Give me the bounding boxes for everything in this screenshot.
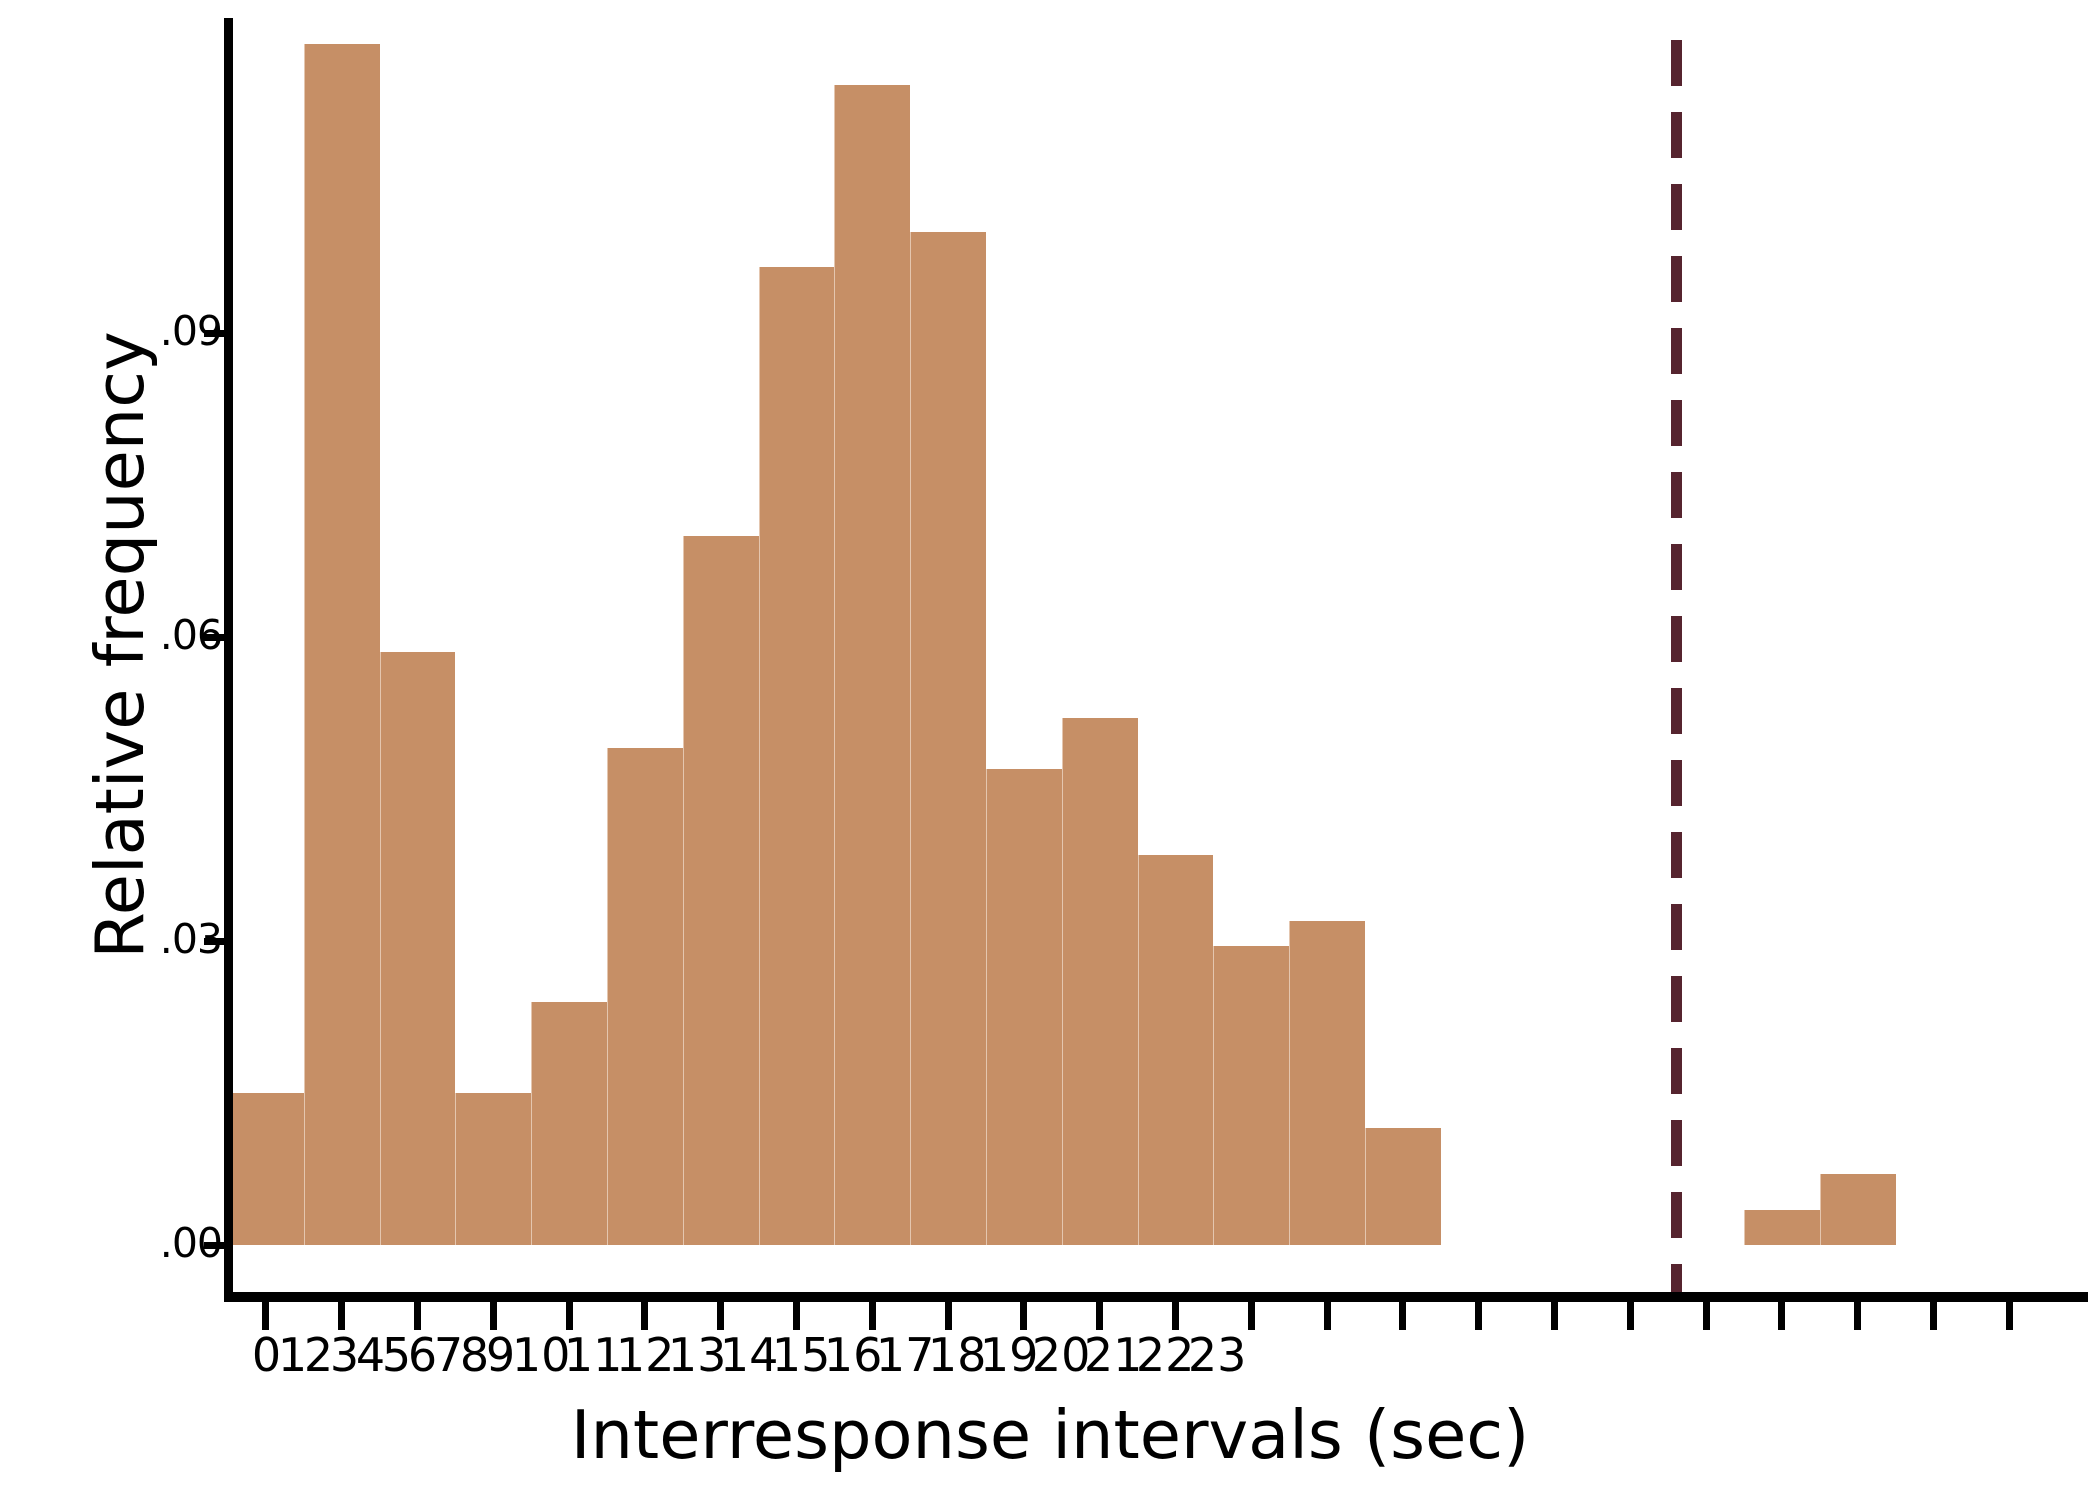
x-axis-tick-label: 18 xyxy=(928,1330,987,1380)
x-axis-tick-label: 15 xyxy=(772,1330,831,1380)
histogram-bar xyxy=(455,1093,531,1245)
x-axis-tick-label: 12 xyxy=(616,1330,675,1380)
x-axis-tick xyxy=(1778,1302,1785,1330)
x-axis-tick xyxy=(1020,1302,1027,1330)
x-axis-tick xyxy=(1551,1302,1558,1330)
x-axis-tick xyxy=(793,1302,800,1330)
x-axis-tick xyxy=(2006,1302,2013,1330)
histogram-bar xyxy=(1138,855,1214,1245)
histogram-bar xyxy=(683,536,759,1245)
y-axis-tick-label: .09 xyxy=(160,311,222,352)
x-axis-tick-label: 10 xyxy=(512,1330,571,1380)
x-axis-tick xyxy=(338,1302,345,1330)
x-axis-tick-label: 9 xyxy=(486,1330,515,1380)
x-axis-tick-label: 14 xyxy=(720,1330,779,1380)
x-axis-tick-label: 16 xyxy=(824,1330,883,1380)
histogram-bar xyxy=(607,748,683,1245)
histogram-bar xyxy=(759,267,835,1245)
histogram-bar xyxy=(986,769,1062,1245)
x-axis-tick-label: 20 xyxy=(1032,1330,1091,1380)
x-axis-tick xyxy=(1172,1302,1179,1330)
x-axis-tick-label: 17 xyxy=(876,1330,935,1380)
x-axis-tick xyxy=(1475,1302,1482,1330)
x-axis-tick-label: 23 xyxy=(1188,1330,1247,1380)
histogram-bar xyxy=(531,1002,607,1245)
y-axis-line xyxy=(224,18,233,1300)
x-axis-tick-label: 8 xyxy=(460,1330,489,1380)
x-axis-tick-label: 2 xyxy=(304,1330,333,1380)
x-axis-tick xyxy=(945,1302,952,1330)
histogram-bar xyxy=(304,44,380,1245)
median-dashed-line xyxy=(1671,40,1682,1300)
histogram-bar xyxy=(1820,1174,1896,1245)
x-axis-tick-label: 21 xyxy=(1084,1330,1143,1380)
x-axis-tick-label: 4 xyxy=(356,1330,385,1380)
x-axis-tick xyxy=(1324,1302,1331,1330)
plot-area: .00.03.06.09 012345678910111213141516171… xyxy=(0,0,2100,1500)
histogram-bar xyxy=(1744,1210,1820,1245)
x-axis-tick-labels: 01234567891011121314151617181920212223 xyxy=(0,1330,2100,1390)
histogram-bar xyxy=(834,85,910,1245)
histogram-figure: .00.03.06.09 012345678910111213141516171… xyxy=(0,0,2100,1500)
histogram-bar xyxy=(910,232,986,1245)
histogram-bar xyxy=(1289,921,1365,1245)
x-axis-tick-label: 1 xyxy=(278,1330,307,1380)
x-axis-tick xyxy=(1854,1302,1861,1330)
x-axis-tick-label: 7 xyxy=(434,1330,463,1380)
x-axis-tick xyxy=(1930,1302,1937,1330)
x-axis-tick-label: 0 xyxy=(252,1330,281,1380)
y-axis-tick-label: .00 xyxy=(160,1223,222,1264)
x-axis-tick xyxy=(1248,1302,1255,1330)
x-axis-tick xyxy=(717,1302,724,1330)
x-axis-tick xyxy=(490,1302,497,1330)
x-axis-title: Interresponse intervals (sec) xyxy=(0,1395,2100,1475)
x-axis-tick xyxy=(566,1302,573,1330)
histogram-bar xyxy=(228,1093,304,1245)
histogram-bar xyxy=(1062,718,1138,1245)
x-axis-tick-label: 22 xyxy=(1136,1330,1195,1380)
histogram-bar xyxy=(1365,1128,1441,1245)
x-axis-tick-label: 5 xyxy=(382,1330,411,1380)
x-axis-tick-label: 3 xyxy=(330,1330,359,1380)
x-axis-line xyxy=(224,1292,2088,1302)
y-axis-title: Relative frequency xyxy=(80,195,160,1095)
y-axis-tick-label: .06 xyxy=(160,615,222,656)
x-axis-tick-label: 11 xyxy=(564,1330,623,1380)
y-axis-tick-label: .03 xyxy=(160,919,222,960)
x-axis-tick-label: 13 xyxy=(668,1330,727,1380)
x-axis-tick xyxy=(869,1302,876,1330)
histogram-bar xyxy=(1213,946,1289,1245)
x-axis-tick xyxy=(1096,1302,1103,1330)
x-axis-tick xyxy=(1703,1302,1710,1330)
x-axis-tick-label: 19 xyxy=(980,1330,1039,1380)
x-axis-tick xyxy=(641,1302,648,1330)
x-axis-tick-label: 6 xyxy=(408,1330,437,1380)
histogram-bar xyxy=(380,652,456,1245)
x-axis-tick xyxy=(1399,1302,1406,1330)
x-axis-tick xyxy=(414,1302,421,1330)
x-axis-tick xyxy=(262,1302,269,1330)
x-axis-tick xyxy=(1627,1302,1634,1330)
